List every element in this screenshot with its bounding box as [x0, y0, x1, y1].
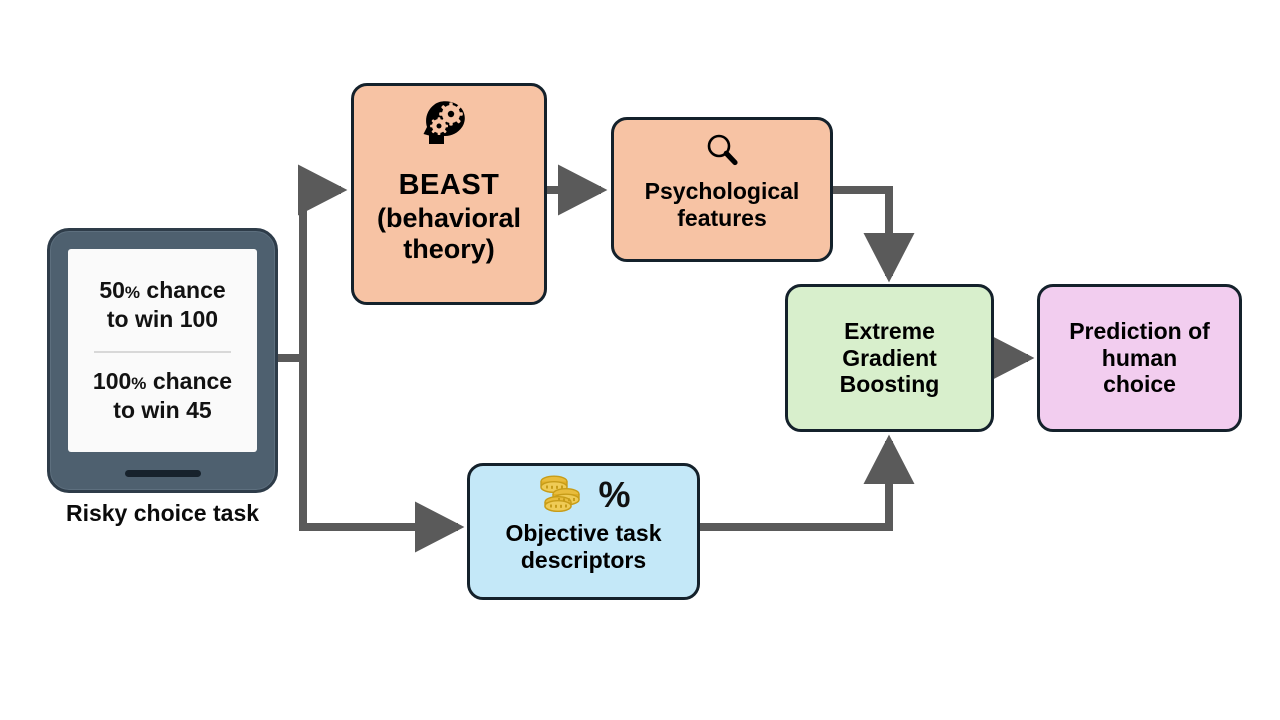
choice-option-1-prob: 50 [99, 277, 125, 303]
node-xgb-label-1: Extreme [844, 318, 935, 345]
diagram-canvas: 50% chance to win 100 100% chance to win… [0, 0, 1280, 720]
node-beast-label-sub-2: theory) [403, 234, 495, 265]
node-psych-label-2: features [677, 205, 766, 232]
node-beast-label-main: BEAST [399, 169, 500, 203]
choice-option-1: 50% chance to win 100 [99, 276, 225, 335]
psych-icon-slot [614, 132, 830, 174]
risky-choice-task-caption: Risky choice task [35, 500, 290, 528]
node-prediction-label-1: Prediction of [1069, 318, 1210, 345]
choice-option-2-chance-word: chance [153, 368, 232, 394]
choice-option-2: 100% chance to win 45 [93, 367, 232, 426]
node-beast[interactable]: BEAST (behavioral theory) [351, 83, 547, 305]
node-psych-label-1: Psychological [645, 178, 800, 205]
node-objective-label-2: descriptors [521, 547, 646, 574]
node-xgb-label-3: Boosting [840, 371, 940, 398]
edge-task-to-objective [303, 358, 458, 527]
magnifying-glass-icon [704, 132, 740, 174]
node-xgb-label-2: Gradient [842, 345, 937, 372]
choice-option-1-outcome: to win 100 [107, 306, 218, 332]
choice-option-1-chance-word: chance [146, 277, 225, 303]
coins-icon [536, 472, 584, 518]
node-prediction-label-3: choice [1103, 371, 1176, 398]
beast-icon-slot [354, 98, 544, 157]
device-screen: 50% chance to win 100 100% chance to win… [68, 249, 257, 452]
node-objective-task-descriptors[interactable]: % Objective task descriptors [467, 463, 700, 600]
objective-icon-slot: % [470, 472, 697, 518]
edge-objective-to-xgb [700, 441, 889, 527]
choice-option-2-unit: % [131, 374, 146, 393]
device-home-indicator [125, 470, 201, 477]
head-with-gears-icon [421, 98, 477, 157]
edge-task-to-beast [303, 190, 341, 358]
node-prediction-label-2: human [1102, 345, 1177, 372]
risky-choice-task-device: 50% chance to win 100 100% chance to win… [47, 228, 278, 493]
edge-psych-to-xgb [833, 190, 889, 276]
option-divider [94, 351, 232, 353]
choice-option-2-outcome: to win 45 [113, 397, 211, 423]
percent-symbol-icon: % [598, 477, 630, 513]
node-psychological-features[interactable]: Psychological features [611, 117, 833, 262]
node-beast-label-sub-1: (behavioral [377, 203, 521, 234]
choice-option-2-prob: 100 [93, 368, 131, 394]
node-prediction-of-human-choice[interactable]: Prediction of human choice [1037, 284, 1242, 432]
node-objective-label-1: Objective task [506, 520, 662, 547]
choice-option-1-unit: % [125, 283, 140, 302]
node-extreme-gradient-boosting[interactable]: Extreme Gradient Boosting [785, 284, 994, 432]
